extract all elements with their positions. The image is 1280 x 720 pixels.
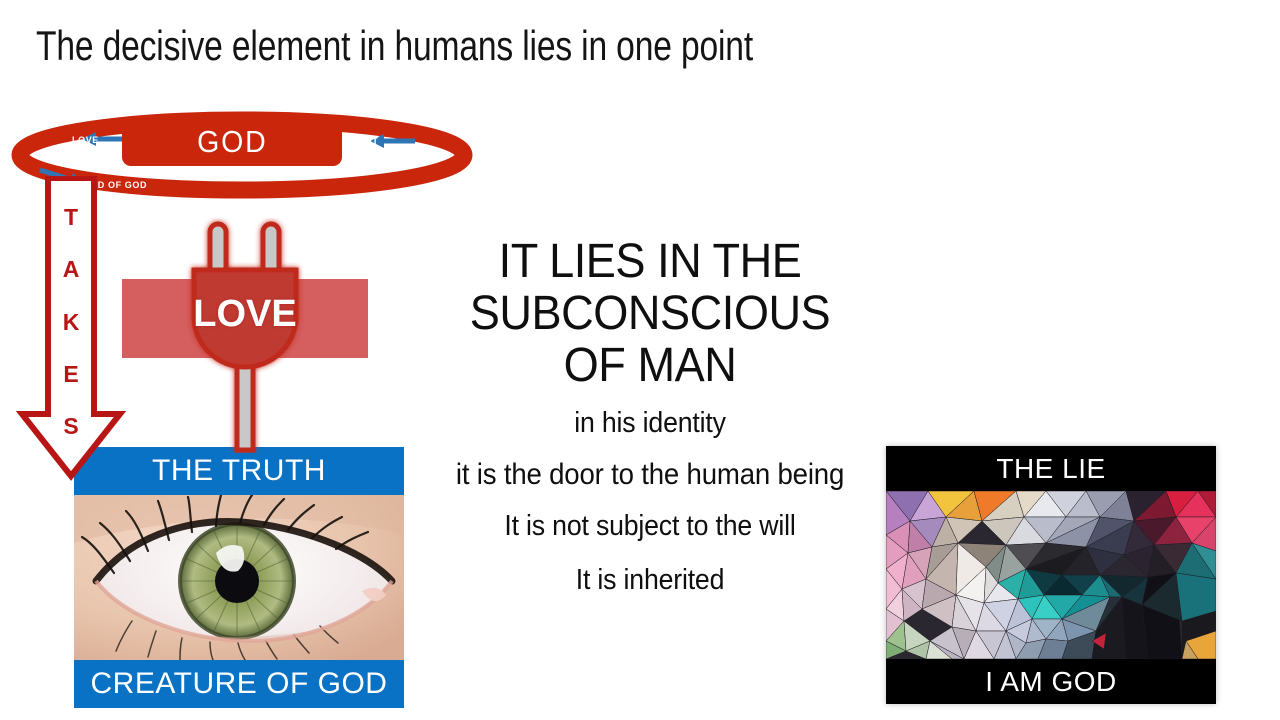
headline-line-2: SUBCONSCIOUS (424, 288, 875, 340)
truth-panel: THE TRUTH (74, 447, 404, 708)
god-box-label: GOD (197, 124, 267, 160)
realistic-eye-svg (74, 495, 404, 660)
love-plug (175, 218, 315, 453)
lie-top-banner: THE LIE (886, 446, 1216, 491)
lowpoly-eye-image (886, 491, 1216, 659)
lie-panel: THE LIE (886, 446, 1216, 704)
power-plug-icon (175, 218, 315, 453)
god-box: GOD (122, 118, 342, 166)
slide-canvas: The decisive element in humans lies in o… (0, 0, 1280, 720)
lie-bottom-banner: I AM GOD (886, 659, 1216, 704)
takes-arrow-icon (14, 176, 128, 481)
headline-line-3: OF MAN (424, 340, 875, 392)
lowpoly-eye-svg (886, 491, 1216, 659)
truth-bottom-banner: CREATURE OF GOD (74, 660, 404, 708)
cycle-label-love: LOVE (72, 135, 99, 145)
cycle-label-fruit: FRUIT (349, 136, 379, 146)
headline-line-1: IT LIES IN THE (424, 236, 875, 288)
subtext-line-3: It is not subject to the will (429, 512, 871, 541)
realistic-eye-image (74, 495, 404, 660)
takes-arrow (14, 176, 128, 481)
center-text-block: IT LIES IN THE SUBCONSCIOUS OF MAN in hi… (410, 236, 890, 595)
page-title: The decisive element in humans lies in o… (36, 22, 753, 70)
subtext-line-2: it is the door to the human being (429, 460, 871, 490)
subtext-line-1: in his identity (429, 409, 871, 438)
subtext-line-4: It is inherited (429, 566, 871, 595)
